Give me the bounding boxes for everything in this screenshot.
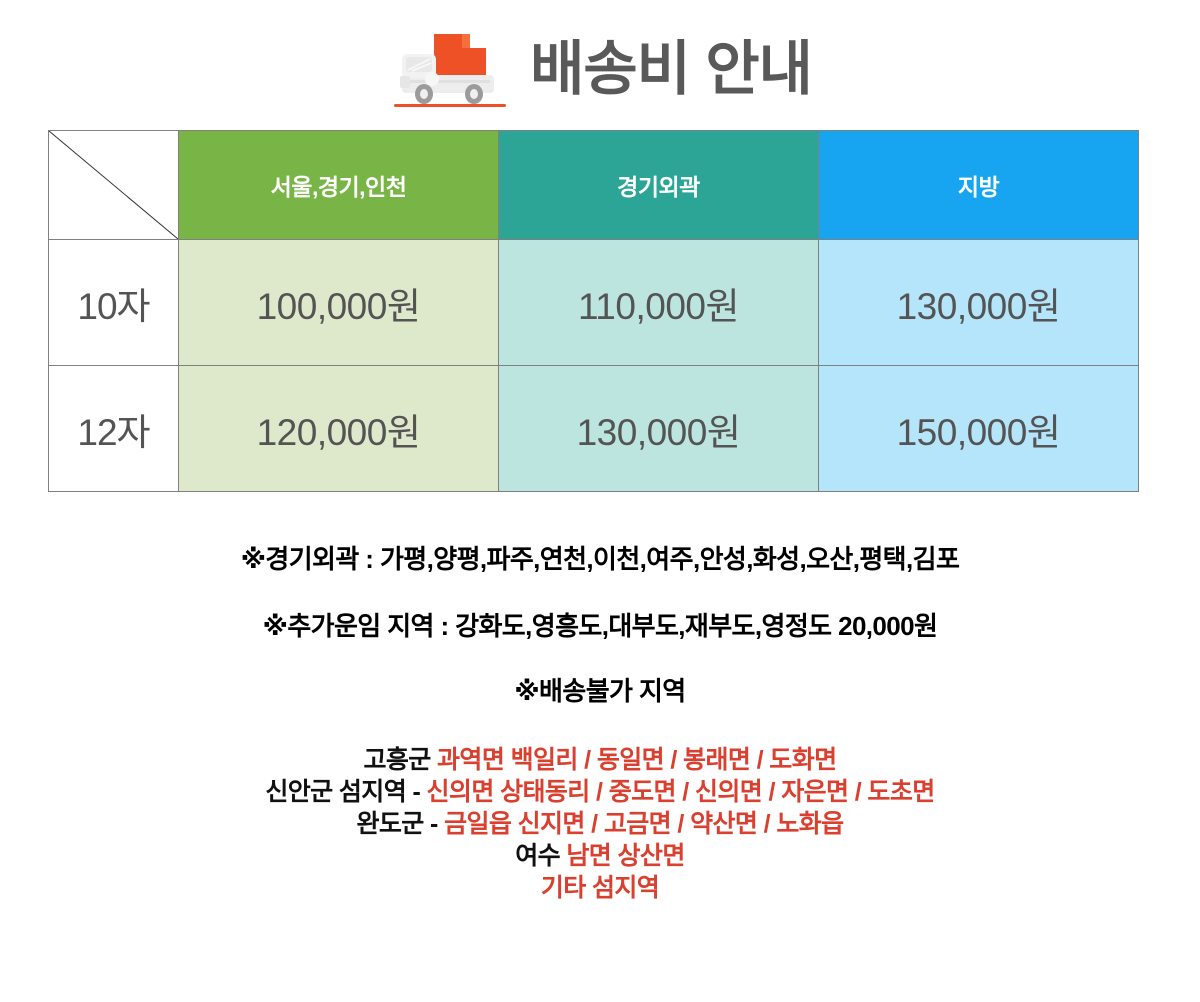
note-spacer	[0, 575, 1200, 611]
column-header-seoul: 서울,경기,인천	[179, 131, 499, 240]
page-title: 배송비 안내	[530, 40, 812, 99]
page-header: 배송비 안내	[0, 0, 1200, 130]
list-item: 완도군 - 금일읍 신지면 / 고금면 / 약산면 / 노화읍	[0, 808, 1200, 840]
shipping-fee-table: 서울,경기,인천 경기외곽 지방 10자 100,000원 110,000원 1…	[48, 130, 1139, 492]
table-row: 10자 100,000원 110,000원 130,000원	[49, 240, 1139, 366]
row-label-10ja: 10자	[49, 240, 179, 366]
note-extra-fee: ※추가운임 지역 : 강화도,영흥도,대부도,재부도,영정도 20,000원	[0, 611, 1200, 642]
note-spacer	[0, 642, 1200, 676]
restricted-areas: 과역면 백일리 / 동일면 / 봉래면 / 도화면	[437, 746, 836, 774]
list-item: 고흥군 과역면 백일리 / 동일면 / 봉래면 / 도화면	[0, 744, 1200, 776]
price-12ja-seoul: 120,000원	[179, 366, 499, 492]
column-header-local: 지방	[819, 131, 1139, 240]
restricted-prefix: 신안군 섬지역 -	[265, 778, 426, 806]
list-item: 여수 남면 상산면	[0, 840, 1200, 872]
restricted-areas: 금일읍 신지면 / 고금면 / 약산면 / 노화읍	[444, 810, 843, 838]
list-item: 신안군 섬지역 - 신의면 상태동리 / 중도면 / 신의면 / 자은면 / 도…	[0, 776, 1200, 808]
column-header-gyeonggi-outer: 경기외곽	[499, 131, 819, 240]
row-label-12ja: 12자	[49, 366, 179, 492]
restricted-prefix: 고흥군	[363, 746, 437, 774]
restricted-prefix: 여수	[515, 842, 566, 870]
restricted-prefix: 완도군 -	[356, 810, 444, 838]
restricted-areas: 기타 섬지역	[541, 874, 659, 902]
note-outer-region: ※경기외곽 : 가평,양평,파주,연천,이천,여주,안성,화성,오산,평택,김포	[0, 544, 1200, 575]
price-10ja-seoul: 100,000원	[179, 240, 499, 366]
price-10ja-outer: 110,000원	[499, 240, 819, 366]
diagonal-divider-icon	[49, 131, 178, 239]
notes-section: ※경기외곽 : 가평,양평,파주,연천,이천,여주,안성,화성,오산,평택,김포…	[0, 544, 1200, 708]
restricted-areas-list: 고흥군 과역면 백일리 / 동일면 / 봉래면 / 도화면 신안군 섬지역 - …	[0, 744, 1200, 904]
price-12ja-outer: 130,000원	[499, 366, 819, 492]
table-header-row: 서울,경기,인천 경기외곽 지방	[49, 131, 1139, 240]
fee-table-container: 서울,경기,인천 경기외곽 지방 10자 100,000원 110,000원 1…	[0, 130, 1200, 492]
delivery-truck-icon	[388, 26, 512, 112]
price-12ja-local: 150,000원	[819, 366, 1139, 492]
table-row: 12자 120,000원 130,000원 150,000원	[49, 366, 1139, 492]
list-item: 기타 섬지역	[0, 872, 1200, 904]
note-restricted-heading: ※배송불가 지역	[0, 676, 1200, 707]
restricted-areas: 남면 상산면	[566, 842, 684, 870]
table-corner-cell	[49, 131, 179, 240]
price-10ja-local: 130,000원	[819, 240, 1139, 366]
restricted-areas: 신의면 상태동리 / 중도면 / 신의면 / 자은면 / 도초면	[427, 778, 935, 806]
